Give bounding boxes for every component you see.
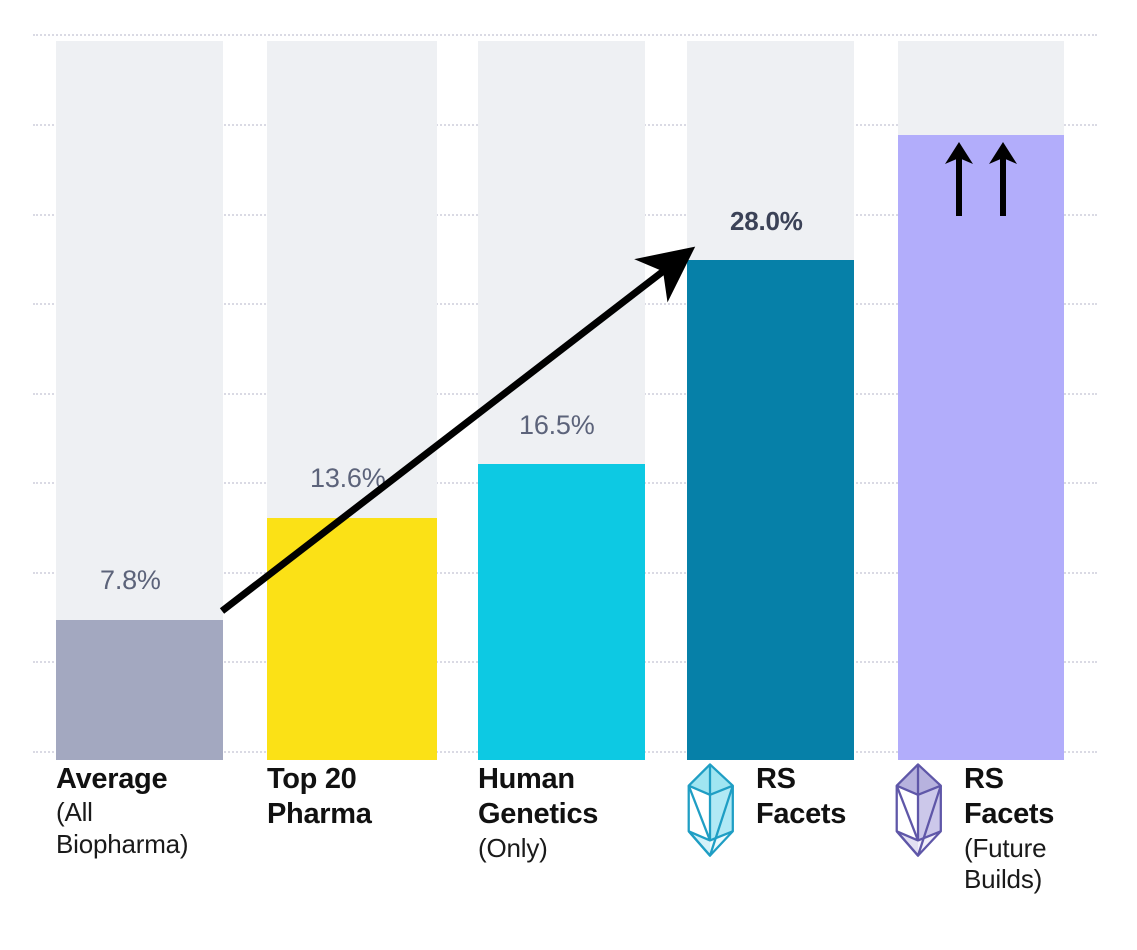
x-label-average-title: Average: [56, 762, 188, 797]
x-label-top20-pharma: Top 20 Pharma: [267, 762, 467, 833]
bar-rs-facets[interactable]: [687, 260, 854, 760]
x-label-average-subtitle: (All Biopharma): [56, 797, 188, 860]
x-label-rs-facets: RS Facets: [672, 762, 902, 862]
x-label-human-genetics-title: Human Genetics: [478, 762, 598, 833]
bar-value-label-human-genetics: 16.5%: [519, 410, 595, 441]
x-label-rs-facets-future-subtitle: (Future Builds): [964, 833, 1054, 896]
bar-rs-facets-future[interactable]: [898, 135, 1064, 760]
x-label-rs-facets-future-title: RS Facets: [964, 762, 1054, 833]
x-label-rs-facets-title: RS Facets: [756, 762, 846, 833]
bar-human-genetics[interactable]: [478, 464, 645, 760]
x-label-average: Average (All Biopharma): [56, 762, 256, 861]
x-label-human-genetics-subtitle: (Only): [478, 833, 598, 865]
rs-facets-gem-logo-purple-icon: [880, 758, 956, 862]
plot-area: 7.8% 13.6% 16.5% 28.0%: [0, 0, 1137, 760]
bar-value-label-rs-facets: 28.0%: [730, 206, 803, 237]
chart-canvas: 7.8% 13.6% 16.5% 28.0%: [0, 0, 1137, 950]
x-label-rs-facets-future: RS Facets (Future Builds): [880, 762, 1130, 896]
x-axis-labels: Average (All Biopharma) Top 20 Pharma Hu…: [0, 762, 1137, 950]
bar-value-label-average: 7.8%: [100, 565, 161, 596]
gridline: [33, 34, 1097, 36]
bar-value-label-top20: 13.6%: [310, 463, 386, 494]
rs-facets-gem-logo-icon: [672, 758, 748, 862]
bar-top20-pharma[interactable]: [267, 518, 437, 760]
bar-average[interactable]: [56, 620, 223, 760]
x-label-human-genetics: Human Genetics (Only): [478, 762, 678, 864]
x-label-top20-title: Top 20 Pharma: [267, 762, 372, 833]
